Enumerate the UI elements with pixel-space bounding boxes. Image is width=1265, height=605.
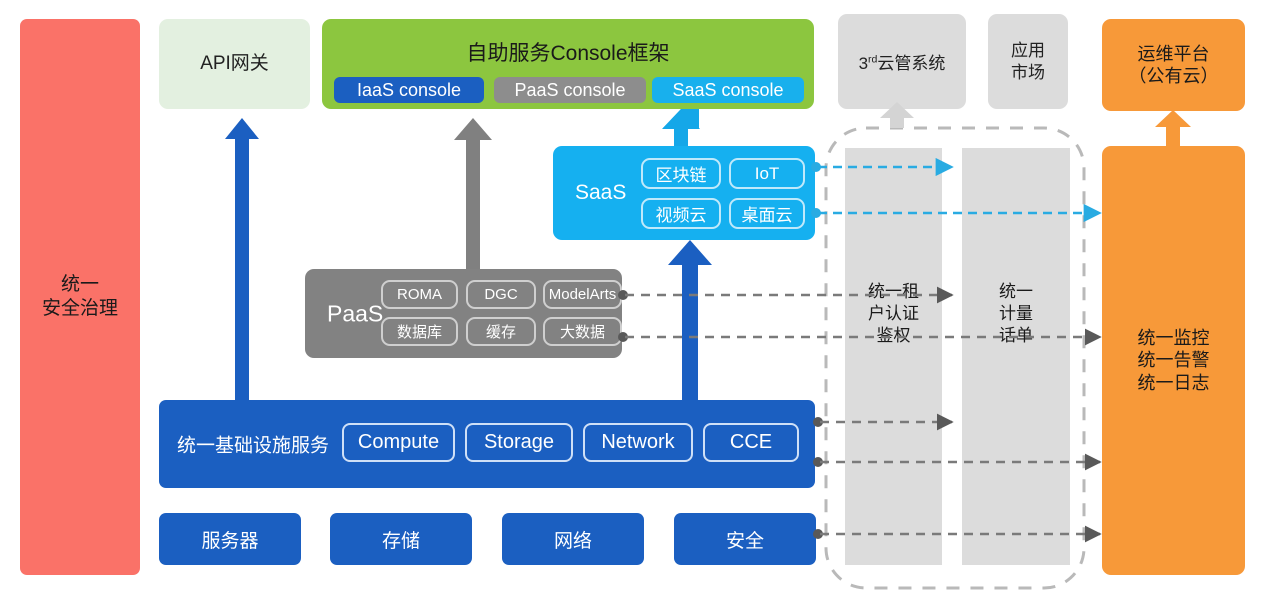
tag-infra-compute-label: Compute (358, 431, 439, 454)
arrow-paas-to-console (454, 118, 492, 269)
panel-saas-layer-label: SaaS (575, 181, 626, 205)
resource-box-security[interactable]: 安全 (674, 513, 816, 565)
console-title: 自助服务Console框架 (322, 37, 814, 67)
arrow-infra-to-saas (668, 240, 712, 400)
chip-iaas-console-label: IaaS console (357, 80, 461, 101)
tag-saas-desktop-cloud-label: 桌面云 (742, 201, 793, 226)
panel-unified-security-governance-label: 统一 安全治理 (42, 273, 118, 321)
panel-third-party-cloud-management: 3rd云管系统 (838, 14, 966, 109)
tag-paas-database[interactable]: 数据库 (381, 317, 458, 346)
tag-paas-dgc-label: DGC (484, 286, 517, 303)
tag-infra-cce[interactable]: CCE (703, 423, 799, 462)
arrow-monitoring-to-ops-platform (1155, 110, 1191, 146)
tag-infra-compute[interactable]: Compute (342, 423, 455, 462)
chip-iaas-console[interactable]: IaaS console (334, 77, 484, 103)
panel-paas-layer: PaaS ROMA DGC ModelArts 数据库 缓存 大数据 (305, 269, 622, 358)
tag-paas-modelarts[interactable]: ModelArts (543, 280, 622, 309)
panel-ops-platform-public-cloud: 运维平台 （公有云） (1102, 19, 1245, 111)
tag-paas-bigdata[interactable]: 大数据 (543, 317, 622, 346)
panel-unified-monitoring: 统一监控 统一告警 统一日志 (1102, 146, 1245, 575)
panel-unified-infrastructure: 统一基础设施服务 Compute Storage Network CCE (159, 400, 815, 488)
column-unified-tenant-auth-label: 统一租 户认证 鉴权 (845, 281, 942, 346)
tag-saas-desktop-cloud[interactable]: 桌面云 (729, 198, 805, 229)
panel-paas-layer-label: PaaS (327, 300, 383, 327)
panel-unified-monitoring-label: 统一监控 统一告警 统一日志 (1138, 327, 1210, 395)
resource-box-network[interactable]: 网络 (502, 513, 644, 565)
resource-box-network-label: 网络 (554, 526, 592, 553)
tag-paas-cache[interactable]: 缓存 (466, 317, 536, 346)
resource-box-security-label: 安全 (726, 526, 764, 553)
tag-infra-cce-label: CCE (730, 431, 772, 454)
panel-api-gateway-label: API网关 (200, 52, 269, 76)
panel-app-market: 应用 市场 (988, 14, 1068, 109)
column-unified-metering (962, 148, 1070, 565)
arrow-infra-to-api-gateway (225, 118, 259, 400)
tag-paas-database-label: 数据库 (397, 321, 442, 342)
column-unified-tenant-auth (845, 148, 942, 565)
architecture-diagram: 统一 安全治理 API网关 自助服务Console框架 IaaS console… (0, 0, 1265, 605)
panel-app-market-label: 应用 市场 (1011, 40, 1045, 83)
chip-saas-console-label: SaaS console (672, 80, 783, 101)
tag-infra-network[interactable]: Network (583, 423, 693, 462)
tag-paas-dgc[interactable]: DGC (466, 280, 536, 309)
tag-infra-storage[interactable]: Storage (465, 423, 573, 462)
tag-saas-iot[interactable]: IoT (729, 158, 805, 189)
tag-saas-video-cloud-label: 视频云 (656, 201, 707, 226)
tag-paas-modelarts-label: ModelArts (549, 286, 617, 303)
panel-unified-infrastructure-label: 统一基础设施服务 (177, 431, 329, 458)
column-unified-metering-label: 统一 计量 话单 (962, 281, 1070, 346)
tag-saas-blockchain-label: 区块链 (656, 161, 707, 186)
tag-paas-roma[interactable]: ROMA (381, 280, 458, 309)
tag-infra-network-label: Network (601, 431, 674, 454)
resource-box-storage-label: 存储 (382, 526, 420, 553)
chip-paas-console-label: PaaS console (514, 80, 625, 101)
tag-paas-cache-label: 缓存 (486, 321, 516, 342)
panel-api-gateway: API网关 (159, 19, 310, 109)
tag-saas-blockchain[interactable]: 区块链 (641, 158, 721, 189)
resource-box-storage[interactable]: 存储 (330, 513, 472, 565)
tag-paas-roma-label: ROMA (397, 286, 442, 303)
resource-box-server-label: 服务器 (201, 526, 258, 553)
chip-saas-console[interactable]: SaaS console (652, 77, 804, 103)
tag-paas-bigdata-label: 大数据 (560, 321, 605, 342)
tag-infra-storage-label: Storage (484, 431, 554, 454)
tag-saas-iot-label: IoT (755, 164, 780, 184)
chip-paas-console[interactable]: PaaS console (494, 77, 646, 103)
arrow-saas-to-saas-console (662, 109, 700, 146)
panel-ops-platform-public-cloud-label: 运维平台 （公有云） (1129, 43, 1219, 88)
panel-saas-layer: SaaS 区块链 IoT 视频云 桌面云 (553, 146, 815, 240)
tag-saas-video-cloud[interactable]: 视频云 (641, 198, 721, 229)
panel-self-service-console: 自助服务Console框架 IaaS console PaaS console … (322, 19, 814, 109)
panel-unified-security-governance: 统一 安全治理 (20, 19, 140, 575)
resource-box-server[interactable]: 服务器 (159, 513, 301, 565)
panel-third-party-cloud-management-label: 3rd云管系统 (859, 49, 946, 74)
